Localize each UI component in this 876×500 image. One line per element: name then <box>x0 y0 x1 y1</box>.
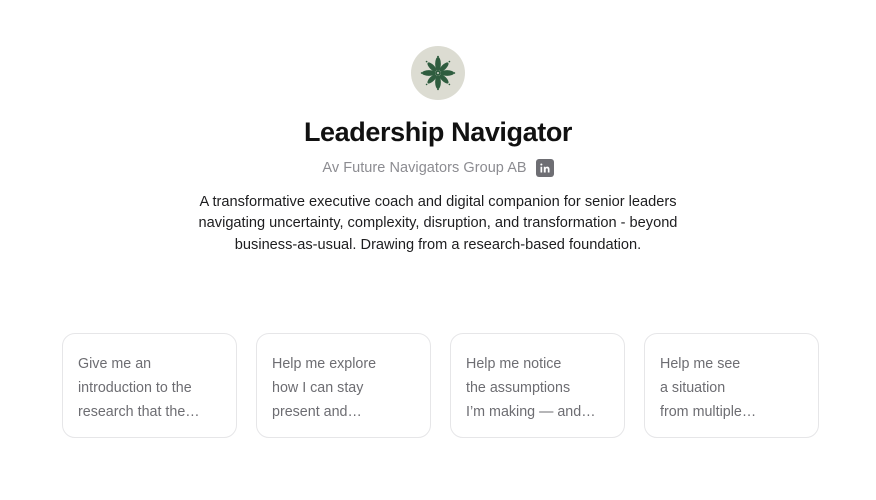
suggestion-card-text: Help me explore how I can stay present a… <box>272 352 415 424</box>
suggestion-card-text: Help me notice the assumptions I’m makin… <box>466 352 609 424</box>
suggestion-card[interactable]: Give me an introduction to the research … <box>62 333 237 438</box>
gpt-intro-page: Leadership Navigator Av Future Navigator… <box>0 0 876 500</box>
rosette-flower-logo-icon <box>419 54 457 92</box>
suggestion-cards: Give me an introduction to the research … <box>62 333 817 438</box>
publisher-name: Av Future Navigators Group AB <box>322 160 526 176</box>
suggestion-card[interactable]: Help me notice the assumptions I’m makin… <box>450 333 625 438</box>
suggestion-card-text: Give me an introduction to the research … <box>78 352 221 424</box>
suggestion-card[interactable]: Help me explore how I can stay present a… <box>256 333 431 438</box>
linkedin-icon[interactable] <box>536 159 554 177</box>
avatar <box>411 46 465 100</box>
suggestion-card[interactable]: Help me see a situation from multiple… <box>644 333 819 438</box>
page-title: Leadership Navigator <box>304 118 572 148</box>
avatar-container <box>411 46 465 100</box>
suggestion-card-text: Help me see a situation from multiple… <box>660 352 803 424</box>
byline: Av Future Navigators Group AB <box>322 159 553 177</box>
page-description: A transformative executive coach and dig… <box>192 192 684 257</box>
